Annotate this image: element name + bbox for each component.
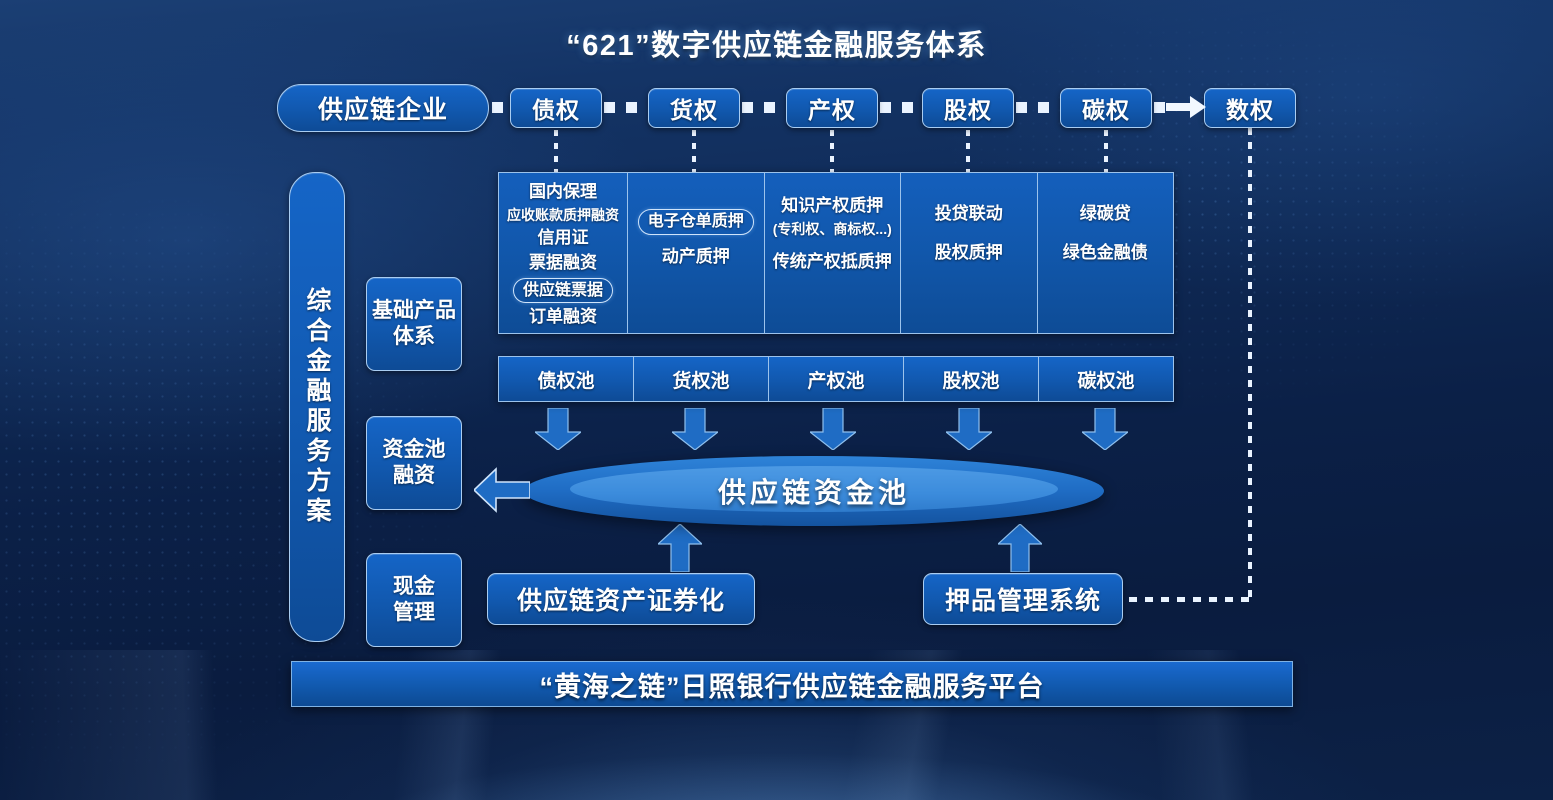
- product-item: 绿碳贷: [1080, 203, 1131, 226]
- dotted-route-vertical-data-rights: [1248, 128, 1252, 600]
- product-item: 票据融资: [529, 252, 597, 275]
- rights-node-label: 货权: [670, 91, 718, 125]
- arrow-down-icon: [535, 408, 581, 450]
- arrow-left-icon: [474, 466, 530, 514]
- category-label-line1: 资金池: [383, 437, 446, 463]
- product-item-highlighted: 电子仓单质押: [638, 209, 754, 235]
- category-fund-pool-financing[interactable]: 资金池 融资: [366, 416, 462, 510]
- collateral-management-label: 押品管理系统: [945, 581, 1101, 617]
- dotted-drop-carbon: [1104, 130, 1108, 176]
- rights-node-label: 碳权: [1082, 91, 1130, 125]
- connector-debt-to-goods: [604, 102, 648, 113]
- page-title: “621”数字供应链金融服务体系: [0, 22, 1553, 64]
- diagram-canvas: “621”数字供应链金融服务体系 供应链企业 债权 货权 产权 股权 碳权 数权…: [0, 0, 1553, 800]
- rights-node-carbon[interactable]: 碳权: [1060, 88, 1152, 128]
- category-basic-products[interactable]: 基础产品 体系: [366, 277, 462, 371]
- product-item: 应收账款质押融资: [507, 206, 619, 225]
- rights-node-debt[interactable]: 债权: [510, 88, 602, 128]
- supply-chain-enterprise-node[interactable]: 供应链企业: [277, 84, 489, 132]
- dotted-drop-equity: [966, 130, 970, 176]
- supply-chain-fund-pool[interactable]: 供应链资金池: [524, 456, 1104, 526]
- arrow-down-icon: [810, 408, 856, 450]
- rights-node-equity[interactable]: 股权: [922, 88, 1014, 128]
- dotted-route-horizontal-collateral: [1129, 597, 1252, 602]
- platform-footer-label: “黄海之链”日照银行供应链金融服务平台: [540, 665, 1045, 704]
- asset-securitization-box[interactable]: 供应链资产证券化: [487, 573, 755, 625]
- pool-cell-debt[interactable]: 债权池: [499, 357, 634, 401]
- connector-property-to-equity: [880, 102, 922, 113]
- comprehensive-financial-solution-label: 综合金融服务方案: [299, 287, 335, 527]
- rights-node-property[interactable]: 产权: [786, 88, 878, 128]
- dotted-drop-property: [830, 130, 834, 176]
- dotted-drop-debt: [554, 130, 558, 176]
- collateral-management-box[interactable]: 押品管理系统: [923, 573, 1123, 625]
- rights-node-data[interactable]: 数权: [1204, 88, 1296, 128]
- pool-cell-equity[interactable]: 股权池: [904, 357, 1039, 401]
- pool-cell-carbon[interactable]: 碳权池: [1039, 357, 1173, 401]
- product-column-carbon: 绿碳贷 绿色金融债: [1038, 173, 1174, 333]
- category-label-line1: 现金: [393, 574, 435, 600]
- comprehensive-financial-solution-bar: 综合金融服务方案: [289, 172, 345, 642]
- product-column-equity: 投贷联动 股权质押: [901, 173, 1038, 333]
- product-column-property: 知识产权质押 (专利权、商标权...) 传统产权抵质押: [765, 173, 902, 333]
- fund-pool-label: 供应链资金池: [524, 456, 1104, 526]
- rights-node-goods[interactable]: 货权: [648, 88, 740, 128]
- product-grid: 国内保理 应收账款质押融资 信用证 票据融资 供应链票据 订单融资 电子仓单质押…: [498, 172, 1174, 334]
- pool-cell-property[interactable]: 产权池: [769, 357, 904, 401]
- product-item: 国内保理: [529, 181, 597, 204]
- product-item: 订单融资: [529, 306, 597, 329]
- pool-cell-goods[interactable]: 货权池: [634, 357, 769, 401]
- supply-chain-enterprise-label: 供应链企业: [318, 90, 448, 126]
- category-cash-management[interactable]: 现金 管理: [366, 553, 462, 647]
- rights-node-label: 股权: [944, 91, 992, 125]
- product-item: 动产质押: [662, 246, 730, 269]
- product-item-highlighted: 供应链票据: [513, 278, 613, 304]
- platform-footer-bar[interactable]: “黄海之链”日照银行供应链金融服务平台: [291, 661, 1293, 707]
- product-item: (专利权、商标权...): [773, 220, 892, 239]
- arrow-right-icon: [1166, 96, 1206, 118]
- category-label-line2: 体系: [372, 324, 456, 350]
- asset-securitization-label: 供应链资产证券化: [517, 581, 725, 617]
- category-label-line2: 管理: [393, 600, 435, 626]
- rights-pool-row: 债权池 货权池 产权池 股权池 碳权池: [498, 356, 1174, 402]
- dotted-drop-goods: [692, 130, 696, 176]
- arrow-up-icon: [658, 524, 702, 572]
- connector-goods-to-property: [742, 102, 786, 113]
- product-column-goods: 电子仓单质押 动产质押: [628, 173, 765, 333]
- product-item: 股权质押: [935, 242, 1003, 265]
- rights-node-label: 数权: [1226, 91, 1274, 125]
- arrow-down-icon: [946, 408, 992, 450]
- product-item: 绿色金融债: [1063, 242, 1148, 265]
- product-item: 信用证: [538, 227, 589, 250]
- category-label-line2: 融资: [383, 463, 446, 489]
- connector-equity-to-carbon: [1016, 102, 1060, 113]
- product-item: 知识产权质押: [781, 195, 883, 218]
- arrow-down-icon: [1082, 408, 1128, 450]
- arrow-down-icon: [672, 408, 718, 450]
- category-label-line1: 基础产品: [372, 298, 456, 324]
- product-item: 传统产权抵质押: [773, 251, 892, 274]
- product-item: 投贷联动: [935, 203, 1003, 226]
- product-column-debt: 国内保理 应收账款质押融资 信用证 票据融资 供应链票据 订单融资: [499, 173, 628, 333]
- connector-enterprise-to-debt: [492, 102, 510, 113]
- arrow-up-icon: [998, 524, 1042, 572]
- rights-node-label: 债权: [532, 91, 580, 125]
- rights-node-label: 产权: [808, 91, 856, 125]
